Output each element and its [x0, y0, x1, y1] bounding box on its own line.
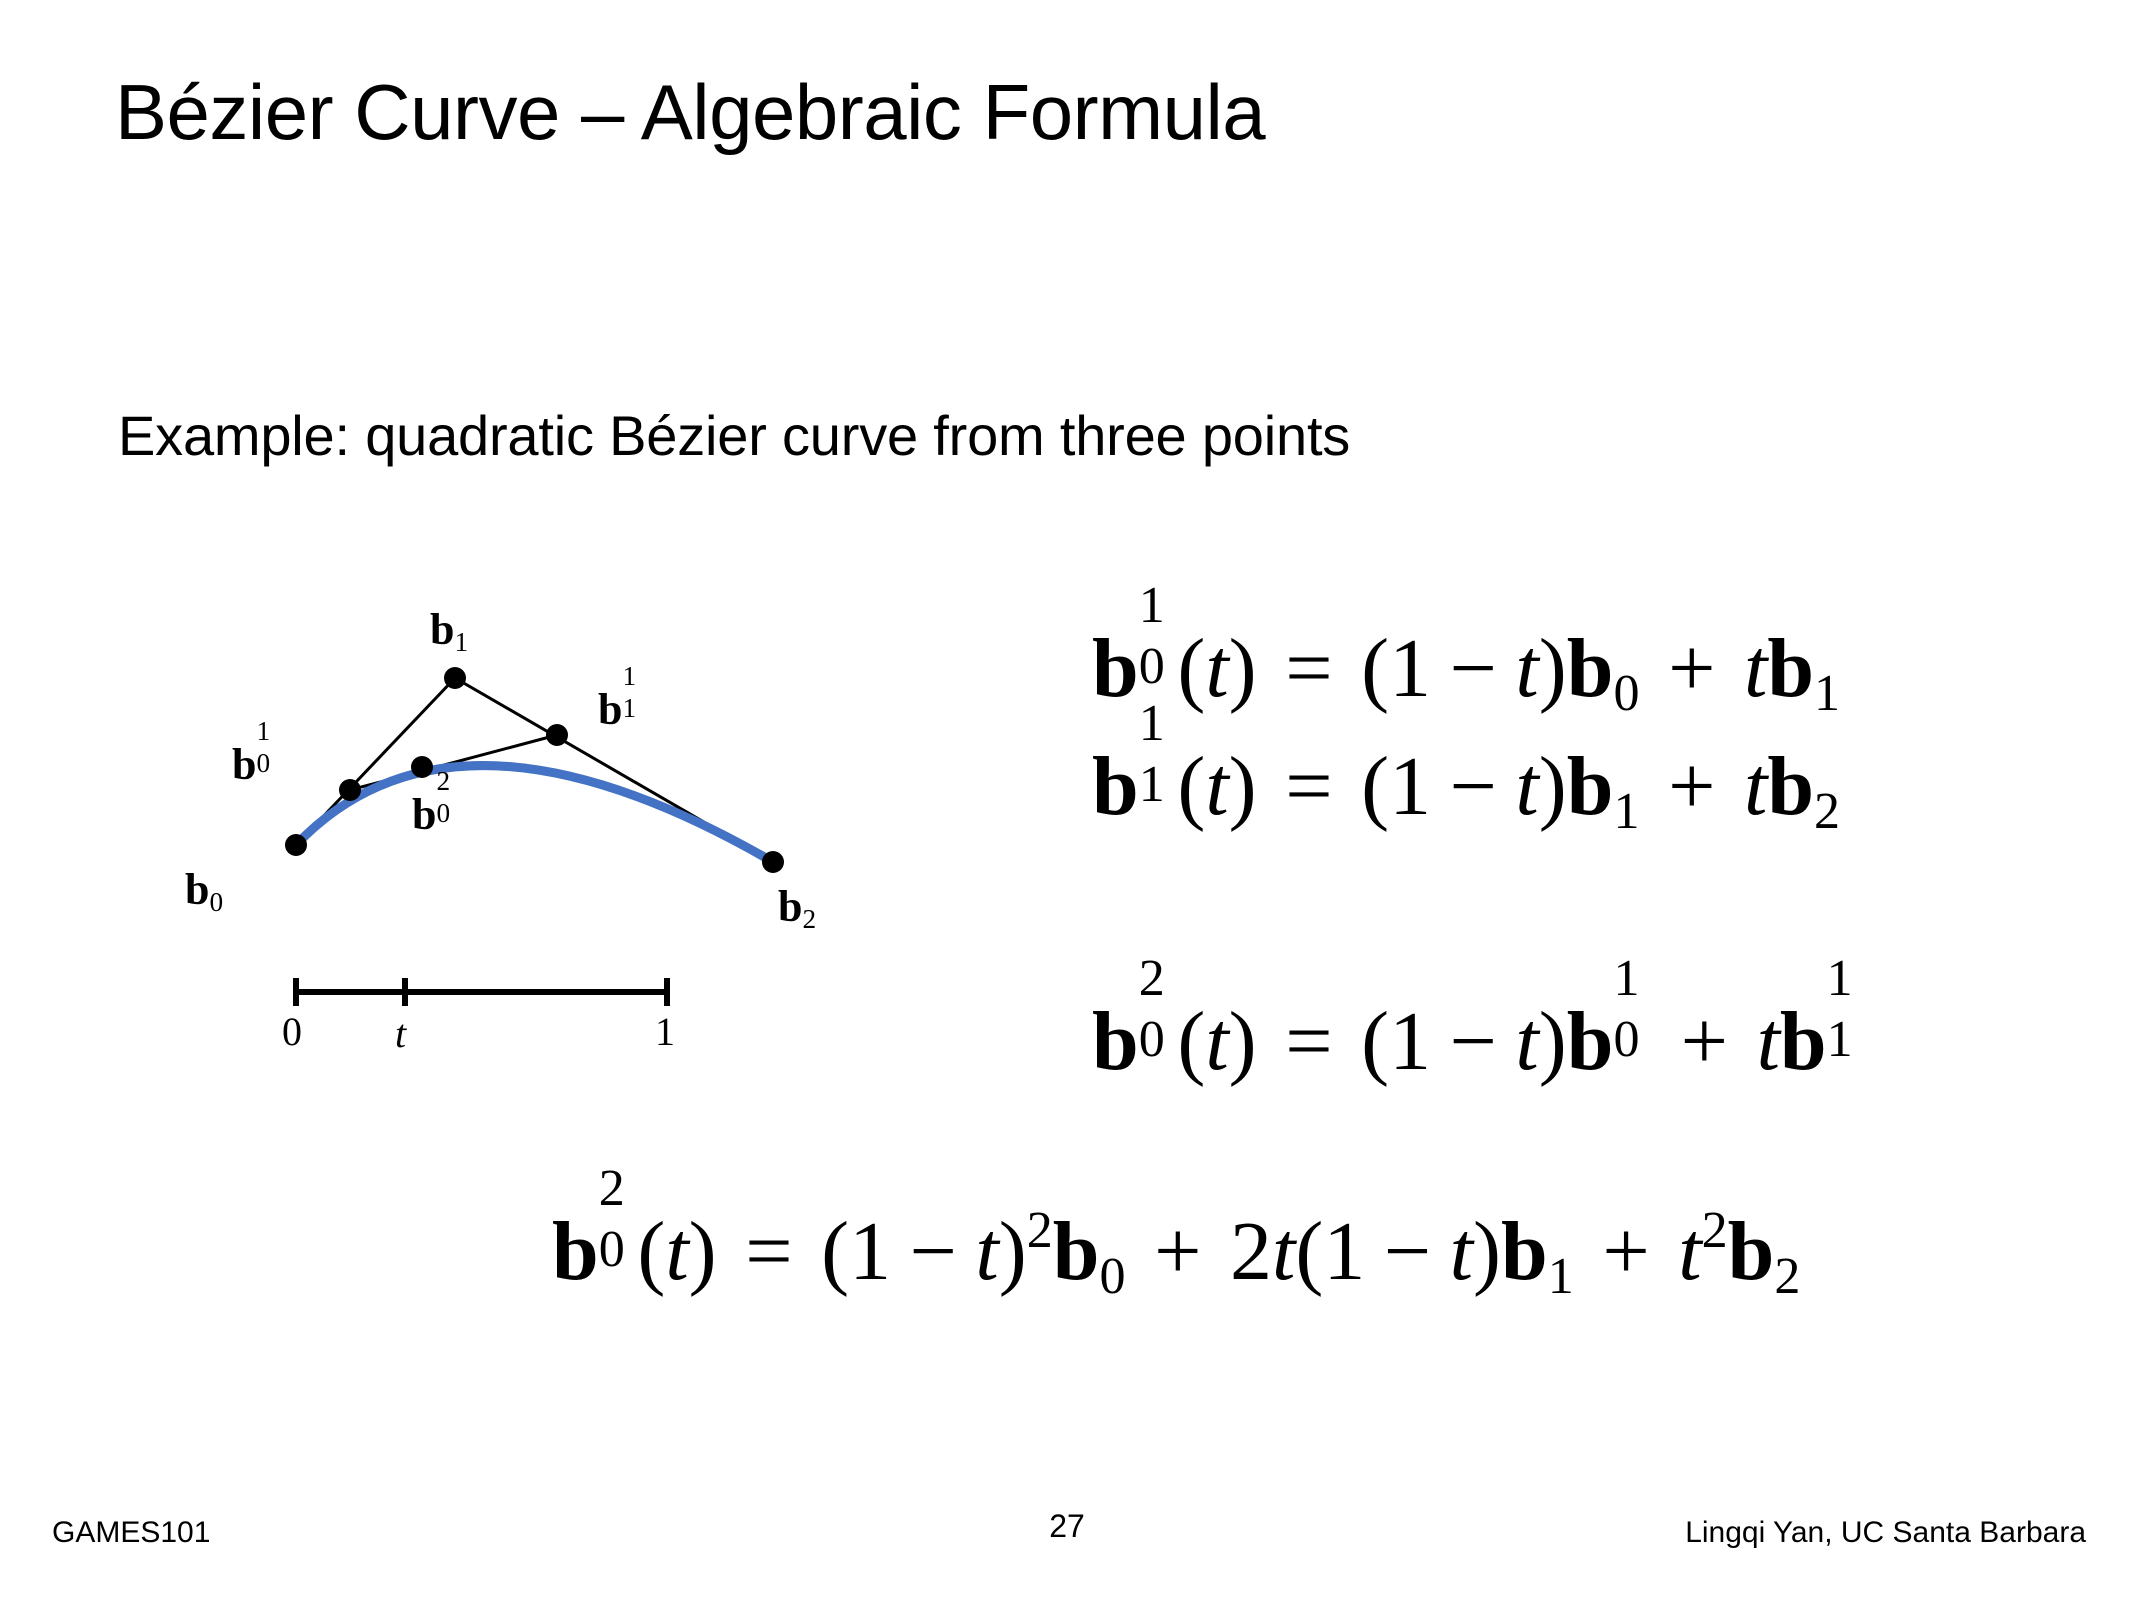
eq4-t1-lparen: ( — [821, 1205, 849, 1298]
eq2-rhs-minus: − — [1450, 740, 1497, 833]
figure-label-b02-sub: 0 — [436, 800, 450, 827]
eq1-rhs-b1-sub: 1 — [1814, 665, 1840, 722]
eq3-rhs-minus: − — [1450, 995, 1497, 1088]
eq4-t2-b1-base: b — [1501, 1205, 1548, 1298]
figure-label-b11-sup: 1 — [622, 663, 636, 690]
eq1-lparen: ( — [1177, 622, 1205, 715]
eq3-rhs-lparen: ( — [1361, 995, 1389, 1088]
point-b1-1 — [546, 724, 568, 746]
eq3-lhs-sup: 2 — [1139, 953, 1165, 1005]
bezier-curve — [296, 766, 773, 862]
eq2-lparen: ( — [1177, 740, 1205, 833]
eq4-t2-minus: − — [1384, 1205, 1431, 1298]
eq4-lhs-base: b — [552, 1205, 599, 1298]
figure-label-b2: b2 — [778, 885, 816, 929]
point-b0-1 — [339, 779, 361, 801]
eq1-rhs-minus: − — [1450, 622, 1497, 715]
figure-label-b1-base: b — [430, 605, 454, 654]
eq3-rhs-b11-base: b — [1780, 995, 1827, 1088]
eq4-rparen: ) — [689, 1205, 717, 1298]
eq4-t1-one: 1 — [849, 1205, 891, 1298]
point-b0 — [285, 834, 307, 856]
eq4-t2-t: t — [1272, 1205, 1295, 1298]
slide-canvas: Bézier Curve – Algebraic Formula Example… — [0, 0, 2134, 1600]
eq3-rhs-coef-t: t — [1757, 995, 1780, 1088]
slide-subtitle: Example: quadratic Bézier curve from thr… — [118, 405, 1350, 467]
eq3-rhs-t: t — [1515, 995, 1538, 1088]
eq3-rhs-one: 1 — [1389, 995, 1431, 1088]
eq4-t1-rparen: ) — [999, 1205, 1027, 1298]
eq3-lhs-indices: 2 0 — [1139, 985, 1178, 1069]
eq2-rhs-b1-base: b — [1567, 740, 1614, 833]
eq3-rhs-b11-sub: 1 — [1827, 1014, 1853, 1066]
eq2-equals: = — [1285, 740, 1332, 833]
equation-b0-2-expanded: b 2 0 (t)=(1−t)2b0+2t(1−t)b1+t2b2 — [552, 1195, 1800, 1294]
figure-label-b11-sub: 1 — [622, 695, 636, 722]
eq1-rparen: ) — [1229, 622, 1257, 715]
equation-b0-2-recursive: b 2 0 (t)=(1−t)b 1 0 +tb 1 1 — [1092, 985, 1865, 1084]
eq4-t1-minus: − — [910, 1205, 957, 1298]
eq3-rhs-b11-indices: 1 1 — [1827, 985, 1866, 1069]
eq2-rhs-rparen: ) — [1539, 740, 1567, 833]
eq4-t1-power: 2 — [1027, 1202, 1053, 1259]
figure-label-b0-base: b — [185, 865, 209, 914]
eq1-rhs-coef-t: t — [1744, 622, 1767, 715]
eq4-lhs-sup: 2 — [599, 1163, 625, 1215]
figure-label-b11-base: b — [598, 685, 622, 734]
eq2-rhs-b2-base: b — [1767, 740, 1814, 833]
eq2-rhs-coef-t: t — [1744, 740, 1767, 833]
figure-label-b2-sub: 2 — [802, 904, 816, 934]
t-axis-label-0: 0 — [282, 1012, 302, 1052]
eq4-t3-t: t — [1678, 1205, 1701, 1298]
figure-label-b0-superscript2: b 2 0 — [412, 785, 457, 837]
eq1-lhs-indices: 1 0 — [1139, 612, 1178, 696]
eq1-lhs-sub: 0 — [1139, 641, 1165, 693]
figure-label-b02-sup: 2 — [436, 768, 450, 795]
page-title: Bézier Curve – Algebraic Formula — [115, 72, 1265, 154]
eq4-arg-t: t — [665, 1205, 688, 1298]
eq2-lhs-sup: 1 — [1139, 698, 1165, 750]
figure-label-b02-indices: 2 0 — [436, 785, 456, 829]
eq4-t2-rparen: ) — [1473, 1205, 1501, 1298]
eq1-rhs-b0-sub: 0 — [1613, 665, 1639, 722]
eq4-lhs-sub: 0 — [599, 1224, 625, 1276]
eq1-arg-t: t — [1205, 622, 1228, 715]
figure-label-b11-indices: 1 1 — [622, 680, 642, 724]
eq1-lhs-sup: 1 — [1139, 580, 1165, 632]
eq3-lhs-base: b — [1092, 995, 1139, 1088]
figure-label-b01-sup: 1 — [256, 718, 270, 745]
bezier-diagram-svg — [200, 580, 960, 1080]
eq3-rparen: ) — [1229, 995, 1257, 1088]
figure-label-b1-sub: 1 — [454, 627, 468, 657]
eq2-rhs-plus: + — [1668, 740, 1715, 833]
eq3-lparen: ( — [1177, 995, 1205, 1088]
eq3-rhs-rparen: ) — [1539, 995, 1567, 1088]
eq2-lhs-indices: 1 1 — [1139, 730, 1178, 814]
t-axis-label-1: 1 — [655, 1012, 675, 1052]
footer-author-label: Lingqi Yan, UC Santa Barbara — [1685, 1516, 2086, 1550]
eq4-lhs-indices: 2 0 — [599, 1195, 638, 1279]
figure-label-b01-base: b — [232, 740, 256, 789]
eq4-t1-b0-sub: 0 — [1100, 1248, 1126, 1305]
eq2-arg-t: t — [1205, 740, 1228, 833]
figure-label-b01-sub: 0 — [256, 750, 270, 777]
eq3-rhs-b01-sup: 1 — [1613, 953, 1639, 1005]
eq3-rhs-b01-base: b — [1567, 995, 1614, 1088]
eq1-equals: = — [1285, 622, 1332, 715]
eq4-t2-t2: t — [1450, 1205, 1473, 1298]
eq3-rhs-plus: + — [1681, 995, 1728, 1088]
eq4-t3-b2-sub: 2 — [1774, 1248, 1800, 1305]
eq2-rhs-t: t — [1515, 740, 1538, 833]
eq3-rhs-b11-sup: 1 — [1827, 953, 1853, 1005]
figure-label-b0: b0 — [185, 868, 223, 912]
eq1-rhs-plus: + — [1668, 622, 1715, 715]
figure-label-b1: b1 — [430, 608, 468, 652]
figure-label-b1-superscript1: b 1 1 — [598, 680, 643, 732]
figure-label-b02-base: b — [412, 790, 436, 839]
eq4-lparen: ( — [637, 1205, 665, 1298]
eq4-t2-b1-sub: 1 — [1548, 1248, 1574, 1305]
eq4-t3-power: 2 — [1702, 1202, 1728, 1259]
eq2-rparen: ) — [1229, 740, 1257, 833]
figure-label-b0-superscript1: b 1 0 — [232, 735, 277, 787]
eq3-rhs-b01-sub: 0 — [1613, 1014, 1639, 1066]
eq1-lhs-base: b — [1092, 622, 1139, 715]
eq3-equals: = — [1285, 995, 1332, 1088]
eq4-plus-2: + — [1602, 1205, 1649, 1298]
point-b1 — [444, 667, 466, 689]
eq2-rhs-b2-sub: 2 — [1814, 783, 1840, 840]
figure-label-b01-indices: 1 0 — [256, 735, 276, 779]
eq1-rhs-t: t — [1515, 622, 1538, 715]
equation-b1-1: b 1 1 (t)=(1−t)b1+tb2 — [1092, 730, 1840, 829]
point-b0-2 — [411, 756, 433, 778]
figure-label-b2-base: b — [778, 882, 802, 931]
eq1-rhs-lparen: ( — [1361, 622, 1389, 715]
eq1-rhs-b1-base: b — [1767, 622, 1814, 715]
eq2-rhs-one: 1 — [1389, 740, 1431, 833]
equation-b0-1: b 1 0 (t)=(1−t)b0+tb1 — [1092, 612, 1840, 711]
eq3-arg-t: t — [1205, 995, 1228, 1088]
eq4-t2-one: 1 — [1323, 1205, 1365, 1298]
eq4-plus-1: + — [1154, 1205, 1201, 1298]
eq1-rhs-one: 1 — [1389, 622, 1431, 715]
eq4-t1-t: t — [975, 1205, 998, 1298]
eq4-equals: = — [745, 1205, 792, 1298]
eq1-rhs-b0-base: b — [1567, 622, 1614, 715]
eq2-rhs-b1-sub: 1 — [1613, 783, 1639, 840]
eq1-rhs-rparen: ) — [1539, 622, 1567, 715]
eq2-rhs-lparen: ( — [1361, 740, 1389, 833]
eq4-t1-b0-base: b — [1053, 1205, 1100, 1298]
eq4-t2-lparen: ( — [1295, 1205, 1323, 1298]
bezier-construction-figure: b1 b 1 1 b 1 0 b 2 0 b0 — [200, 580, 960, 1080]
eq3-lhs-sub: 0 — [1139, 1014, 1165, 1066]
figure-label-b0-sub: 0 — [209, 887, 223, 917]
eq4-t3-b2-base: b — [1728, 1205, 1775, 1298]
t-axis-label-t: t — [395, 1014, 406, 1054]
point-b2 — [762, 851, 784, 873]
eq4-t2-coef: 2 — [1230, 1205, 1272, 1298]
eq2-lhs-sub: 1 — [1139, 759, 1165, 811]
eq2-lhs-base: b — [1092, 740, 1139, 833]
eq3-rhs-b01-indices: 1 0 — [1613, 985, 1652, 1069]
